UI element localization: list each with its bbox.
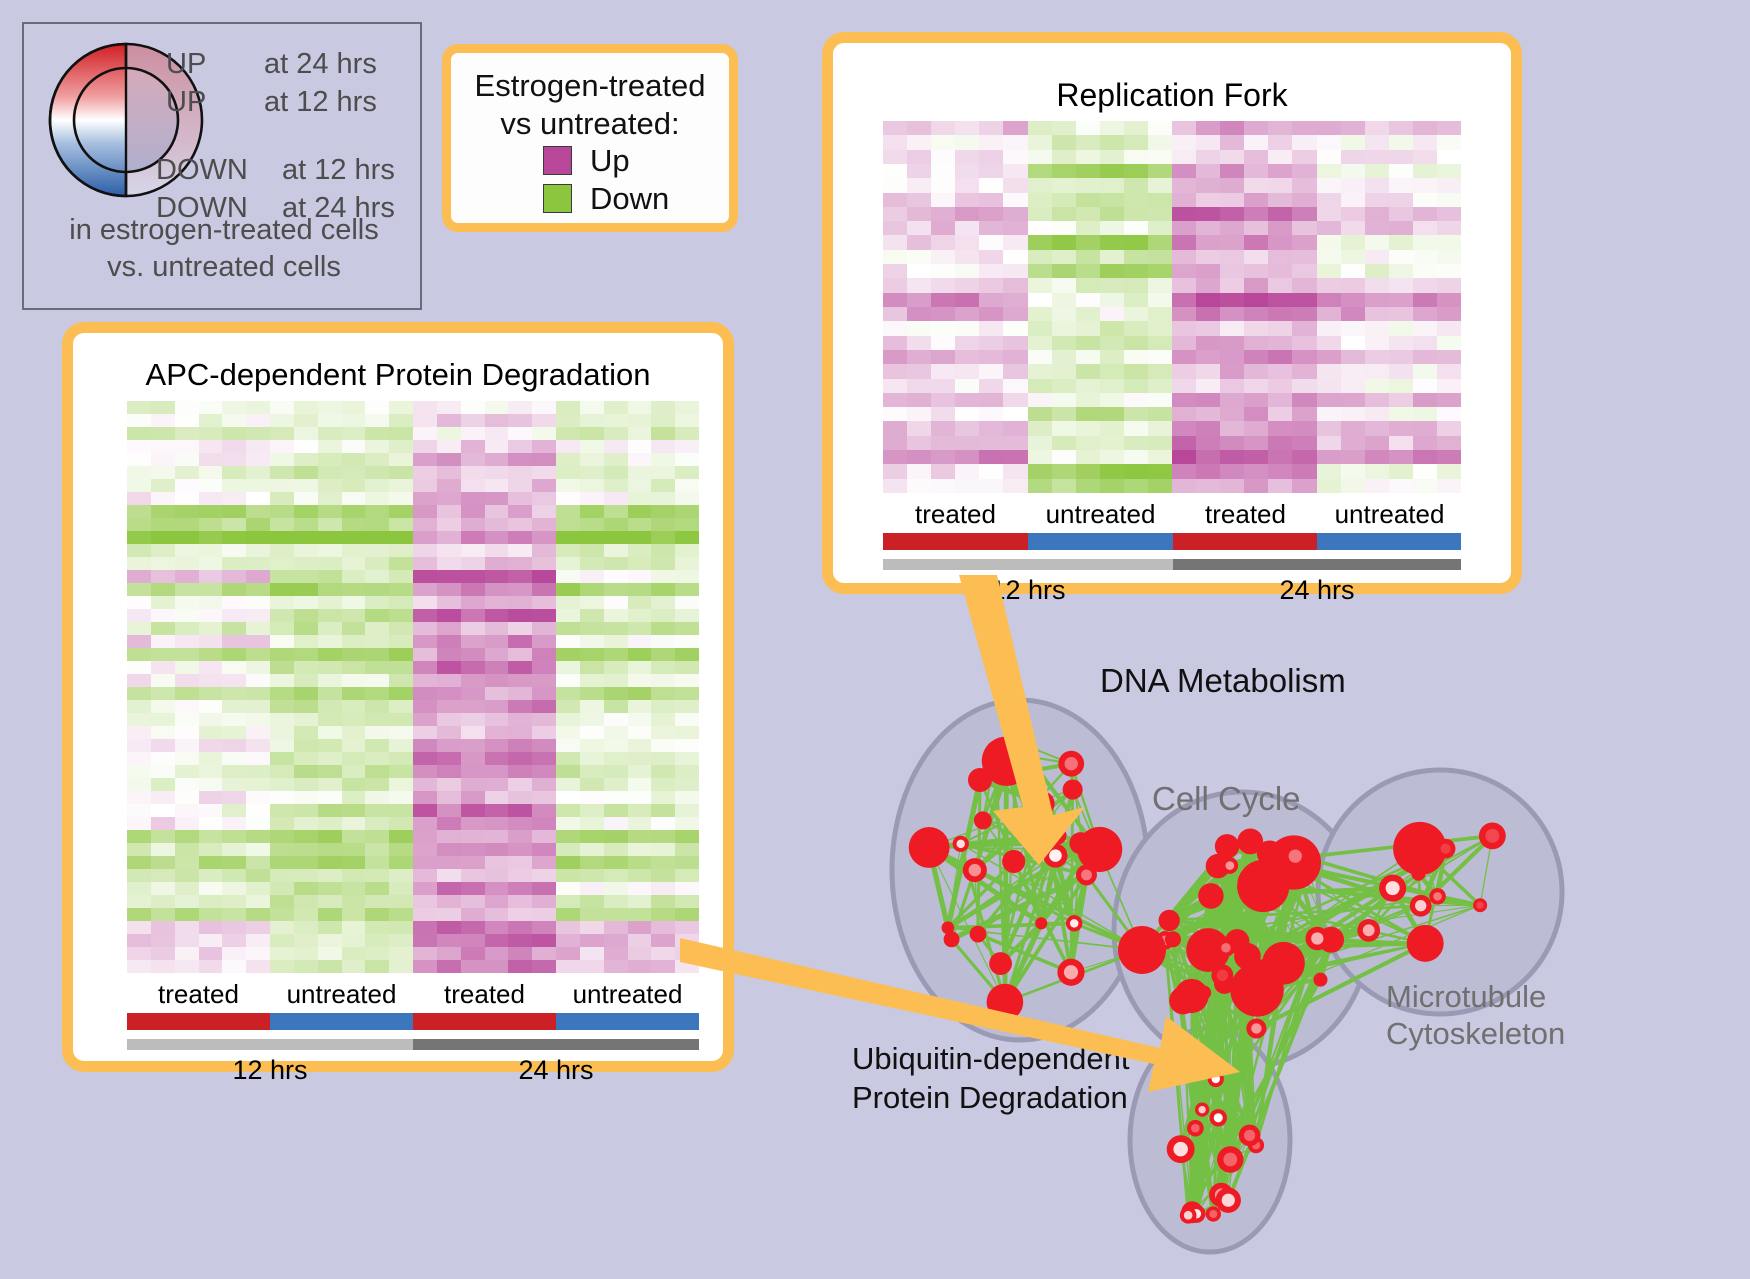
heatmap-cell xyxy=(1052,178,1076,192)
heatmap-cell xyxy=(532,934,556,947)
heatmap-cell xyxy=(270,817,294,830)
heatmap-cell xyxy=(270,466,294,479)
heatmap-cell xyxy=(1124,464,1148,478)
heatmap-cell xyxy=(389,921,413,934)
heatmap-cell xyxy=(1292,264,1316,278)
heatmap-cell xyxy=(604,713,628,726)
heatmap-cell xyxy=(199,739,223,752)
heatmap-cell xyxy=(883,407,907,421)
heatmap-cell xyxy=(437,635,461,648)
heatmap-cell xyxy=(389,622,413,635)
heatmap-cell xyxy=(628,648,652,661)
heatmap-cell xyxy=(389,674,413,687)
heatmap-cell xyxy=(1268,321,1292,335)
heatmap-cell xyxy=(342,804,366,817)
heatmap-cell xyxy=(485,596,509,609)
heatmap-cell xyxy=(342,739,366,752)
network-node xyxy=(1187,1120,1204,1137)
heatmap-cell xyxy=(1244,307,1268,321)
heatmap-cell xyxy=(1124,164,1148,178)
heatmap-cell xyxy=(199,661,223,674)
heatmap-cell xyxy=(1052,264,1076,278)
heatmap-cell xyxy=(175,908,199,921)
heatmap-cell xyxy=(246,908,270,921)
heatmap-cell xyxy=(651,414,675,427)
heatmap-cell xyxy=(461,856,485,869)
heatmap-cell xyxy=(199,700,223,713)
heatmap-cell xyxy=(246,570,270,583)
heatmap-cell xyxy=(556,804,580,817)
heatmap-cell xyxy=(1244,193,1268,207)
heatmap-cell xyxy=(246,531,270,544)
heatmap-cell xyxy=(1437,379,1461,393)
heatmap-cell xyxy=(485,947,509,960)
heatmap-cell xyxy=(979,479,1003,493)
heatmap-cell xyxy=(175,596,199,609)
heatmap-cell xyxy=(1244,479,1268,493)
heatmap-cell xyxy=(556,921,580,934)
heatmap-cell xyxy=(675,778,699,791)
heatmap-cell xyxy=(222,518,246,531)
heatmap-cell xyxy=(1148,150,1172,164)
heatmap-cell xyxy=(580,609,604,622)
heatmap-cell xyxy=(318,674,342,687)
heatmap-cell xyxy=(1220,421,1244,435)
heatmap-cell xyxy=(1268,350,1292,364)
heatmap-cell xyxy=(199,921,223,934)
heatmap-cell xyxy=(1413,393,1437,407)
heatmap-cell xyxy=(675,570,699,583)
heatmap-cell xyxy=(1052,135,1076,149)
heatmap-cell xyxy=(1437,307,1461,321)
heatmap-cell xyxy=(294,570,318,583)
heatmap-cell xyxy=(246,960,270,973)
heatmap-cell xyxy=(461,453,485,466)
heatmap-cell xyxy=(1076,278,1100,292)
heatmap-cell xyxy=(246,700,270,713)
heatmap-cell xyxy=(628,596,652,609)
heatmap-cell xyxy=(389,479,413,492)
heatmap-cell xyxy=(342,726,366,739)
heatmap-cell xyxy=(294,492,318,505)
apc-condition-label-2: treated xyxy=(413,979,556,1010)
heatmap-cell xyxy=(1100,178,1124,192)
heatmap-cell xyxy=(413,739,437,752)
heatmap-cell xyxy=(413,908,437,921)
heatmap-cell xyxy=(389,934,413,947)
heatmap-cell xyxy=(437,661,461,674)
heatmap-cell xyxy=(1268,421,1292,435)
heatmap-cell xyxy=(1052,479,1076,493)
heatmap-cell xyxy=(1028,293,1052,307)
heatmap-cell xyxy=(222,778,246,791)
heatmap-cell xyxy=(175,804,199,817)
heatmap-cell xyxy=(127,570,151,583)
heatmap-cell xyxy=(675,856,699,869)
heatmap-cell xyxy=(955,364,979,378)
heatmap-cell xyxy=(1003,464,1027,478)
heatmap-cell xyxy=(246,544,270,557)
heatmap-cell xyxy=(413,557,437,570)
heatmap-cell xyxy=(1196,336,1220,350)
heatmap-cell xyxy=(907,293,931,307)
heatmap-cell xyxy=(1052,436,1076,450)
heatmap-cell xyxy=(1341,321,1365,335)
heatmap-cell xyxy=(508,921,532,934)
heatmap-cell xyxy=(955,321,979,335)
heatmap-cell xyxy=(342,466,366,479)
heatmap-cell xyxy=(979,164,1003,178)
heatmap-cell xyxy=(1437,207,1461,221)
heatmap-cell xyxy=(318,622,342,635)
heatmap-cell xyxy=(437,765,461,778)
heatmap-cell xyxy=(532,960,556,973)
heatmap-cell xyxy=(222,635,246,648)
apc-condition-label-1: untreated xyxy=(270,979,413,1010)
heatmap-cell xyxy=(556,843,580,856)
heatmap-cell xyxy=(246,947,270,960)
heatmap-cell xyxy=(151,934,175,947)
heatmap-cell xyxy=(270,713,294,726)
heatmap-cell xyxy=(437,856,461,869)
rf-condition-bar-1 xyxy=(1028,533,1173,550)
heatmap-cell xyxy=(199,960,223,973)
heatmap-cell xyxy=(955,221,979,235)
heatmap-cell xyxy=(1317,307,1341,321)
heatmap-cell xyxy=(1172,121,1196,135)
heatmap-cell xyxy=(1244,393,1268,407)
heatmap-cell xyxy=(485,791,509,804)
heatmap-cell xyxy=(1292,421,1316,435)
heatmap-cell xyxy=(532,518,556,531)
heatmap-cell xyxy=(907,407,931,421)
heatmap-cell xyxy=(1220,307,1244,321)
heatmap-cell xyxy=(1076,178,1100,192)
heatmap-cell xyxy=(318,687,342,700)
heatmap-cell xyxy=(151,908,175,921)
heatmap-cell xyxy=(604,596,628,609)
heatmap-cell xyxy=(1052,336,1076,350)
heatmap-cell xyxy=(342,583,366,596)
heatmap-cell xyxy=(413,960,437,973)
heatmap-cell xyxy=(1341,479,1365,493)
heatmap-cell xyxy=(628,947,652,960)
heatmap-cell xyxy=(1437,436,1461,450)
heatmap-cell xyxy=(955,421,979,435)
heatmap-cell xyxy=(628,843,652,856)
heatmap-cell xyxy=(532,570,556,583)
heatmap-cell xyxy=(413,635,437,648)
heatmap-cell xyxy=(246,843,270,856)
heatmap-cell xyxy=(246,726,270,739)
heatmap-cell xyxy=(1124,135,1148,149)
heatmap-cell xyxy=(365,596,389,609)
heatmap-cell xyxy=(604,934,628,947)
heatmap-cell xyxy=(1341,178,1365,192)
heatmap-cell xyxy=(199,817,223,830)
heatmap-cell xyxy=(1365,207,1389,221)
heatmap-cell xyxy=(1100,321,1124,335)
heatmap-cell xyxy=(437,583,461,596)
heatmap-cell xyxy=(485,765,509,778)
heatmap-cell xyxy=(580,661,604,674)
heatmap-cell xyxy=(604,817,628,830)
heatmap-cell xyxy=(318,583,342,596)
heatmap-cell xyxy=(1052,235,1076,249)
heatmap-cell xyxy=(270,752,294,765)
heatmap-cell xyxy=(413,843,437,856)
heatmap-cell xyxy=(955,164,979,178)
heatmap-cell xyxy=(342,869,366,882)
heatmap-cell xyxy=(199,505,223,518)
heatmap-cell xyxy=(979,207,1003,221)
heatmap-cell xyxy=(1365,464,1389,478)
heatmap-cell xyxy=(318,856,342,869)
heatmap-cell xyxy=(222,947,246,960)
heatmap-cell xyxy=(246,505,270,518)
heatmap-cell xyxy=(461,921,485,934)
heatmap-cell xyxy=(270,700,294,713)
heatmap-cell xyxy=(1003,436,1027,450)
heatmap-cell xyxy=(1389,321,1413,335)
heatmap-cell xyxy=(175,843,199,856)
heatmap-cell xyxy=(1003,379,1027,393)
heatmap-cell xyxy=(1196,293,1220,307)
heatmap-cell xyxy=(979,264,1003,278)
heatmap-cell xyxy=(175,869,199,882)
heatmap-cell xyxy=(365,687,389,700)
heatmap-cell xyxy=(199,778,223,791)
heatmap-cell xyxy=(294,453,318,466)
heatmap-cell xyxy=(461,869,485,882)
heatmap-cell xyxy=(651,648,675,661)
heatmap-cell xyxy=(389,661,413,674)
heatmap-cell xyxy=(675,518,699,531)
heatmap-cell xyxy=(1028,364,1052,378)
heatmap-cell xyxy=(1172,364,1196,378)
heatmap-cell xyxy=(1317,293,1341,307)
heatmap-cell xyxy=(1244,379,1268,393)
heatmap-cell xyxy=(1365,336,1389,350)
heatmap-cell xyxy=(628,661,652,674)
heatmap-cell xyxy=(342,492,366,505)
heatmap-cell xyxy=(931,135,955,149)
heatmap-cell xyxy=(365,778,389,791)
heatmap-cell xyxy=(883,278,907,292)
heatmap-cell xyxy=(508,414,532,427)
heatmap-cell xyxy=(151,856,175,869)
heatmap-cell xyxy=(437,453,461,466)
heatmap-cell xyxy=(1317,135,1341,149)
heatmap-cell xyxy=(389,817,413,830)
heatmap-cell xyxy=(1003,450,1027,464)
heatmap-cell xyxy=(979,336,1003,350)
heatmap-cell xyxy=(907,121,931,135)
heatmap-cell xyxy=(222,570,246,583)
heatmap-cell xyxy=(246,804,270,817)
heatmap-cell xyxy=(1003,264,1027,278)
arrow-replication-fork-to-dna-metabolism xyxy=(935,575,1135,865)
heatmap-cell xyxy=(365,401,389,414)
heatmap-cell xyxy=(222,687,246,700)
heatmap-cell xyxy=(580,921,604,934)
heatmap-cell xyxy=(580,752,604,765)
heatmap-cell xyxy=(1244,421,1268,435)
apc-condition-label-0: treated xyxy=(127,979,270,1010)
heatmap-cell xyxy=(675,661,699,674)
heatmap-cell xyxy=(151,947,175,960)
heatmap-cell xyxy=(246,414,270,427)
heatmap-cell xyxy=(955,207,979,221)
heatmap-cell xyxy=(342,648,366,661)
heatmap-cell xyxy=(979,464,1003,478)
heatmap-cell xyxy=(1172,379,1196,393)
heatmap-cell xyxy=(604,830,628,843)
heatmap-cell xyxy=(318,427,342,440)
heatmap-cell xyxy=(556,687,580,700)
heatmap-cell xyxy=(151,479,175,492)
heatmap-cell xyxy=(532,765,556,778)
heatmap-cell xyxy=(1052,379,1076,393)
heatmap-cell xyxy=(1389,164,1413,178)
heatmap-cell xyxy=(222,596,246,609)
heatmap-cell xyxy=(1003,121,1027,135)
heatmap-cell xyxy=(365,479,389,492)
heatmap-cell xyxy=(151,596,175,609)
heatmap-cell xyxy=(580,453,604,466)
heatmap-cell xyxy=(508,804,532,817)
heatmap-cell xyxy=(1052,364,1076,378)
heatmap-cell xyxy=(1437,250,1461,264)
heatmap-cell xyxy=(532,778,556,791)
heatmap-cell xyxy=(199,544,223,557)
heatmap-cell xyxy=(1292,135,1316,149)
heatmap-cell xyxy=(1244,250,1268,264)
heatmap-cell xyxy=(675,843,699,856)
heatmap-cell xyxy=(151,661,175,674)
heatmap-cell xyxy=(389,570,413,583)
heatmap-cell xyxy=(955,436,979,450)
heatmap-cell xyxy=(365,583,389,596)
heatmap-cell xyxy=(1148,250,1172,264)
heatmap-cell xyxy=(413,414,437,427)
heatmap-cell xyxy=(151,544,175,557)
heatmap-cell xyxy=(1292,235,1316,249)
heatmap-cell xyxy=(675,466,699,479)
heatmap-cell xyxy=(628,609,652,622)
heatmap-cell xyxy=(318,908,342,921)
heatmap-cell xyxy=(485,570,509,583)
heatmap-cell xyxy=(651,661,675,674)
heatmap-cell xyxy=(675,804,699,817)
heatmap-cell xyxy=(508,440,532,453)
heatmap-cell xyxy=(1317,164,1341,178)
heatmap-cell xyxy=(270,804,294,817)
heatmap-cell xyxy=(175,778,199,791)
heatmap-cell xyxy=(1341,350,1365,364)
heatmap-cell xyxy=(199,440,223,453)
heatmap-cell xyxy=(1172,464,1196,478)
heatmap-cell xyxy=(1220,364,1244,378)
heatmap-cell xyxy=(580,687,604,700)
heatmap-cell xyxy=(1052,421,1076,435)
heatmap-cell xyxy=(556,752,580,765)
heatmap-cell xyxy=(556,713,580,726)
heatmap-cell xyxy=(175,492,199,505)
heatmap-cell xyxy=(127,947,151,960)
heatmap-cell xyxy=(413,869,437,882)
heatmap-cell xyxy=(979,307,1003,321)
heatmap-cell xyxy=(1268,235,1292,249)
heatmap-cell xyxy=(270,518,294,531)
heatmap-cell xyxy=(437,531,461,544)
heatmap-cell xyxy=(675,414,699,427)
heatmap-cell xyxy=(318,609,342,622)
heatmap-cell xyxy=(1292,393,1316,407)
heatmap-cell xyxy=(508,570,532,583)
heatmap-cell xyxy=(1413,464,1437,478)
heatmap-cell xyxy=(931,250,955,264)
heatmap-cell xyxy=(151,700,175,713)
heatmap-cell xyxy=(437,440,461,453)
heatmap-cell xyxy=(1172,164,1196,178)
heatmap-cell xyxy=(485,700,509,713)
heatmap-cell xyxy=(318,492,342,505)
heatmap-cell xyxy=(270,882,294,895)
heatmap-cell xyxy=(437,492,461,505)
heatmap-cell xyxy=(389,947,413,960)
network-node xyxy=(1217,1146,1243,1172)
heatmap-cell xyxy=(270,765,294,778)
heatmap-cell xyxy=(651,765,675,778)
heatmap-cell xyxy=(907,264,931,278)
heatmap-cell xyxy=(1172,250,1196,264)
heatmap-cell xyxy=(175,583,199,596)
heatmap-cell xyxy=(127,804,151,817)
heatmap-cell xyxy=(485,531,509,544)
heatmap-cell xyxy=(127,492,151,505)
heatmap-cell xyxy=(365,531,389,544)
heatmap-cell xyxy=(1124,421,1148,435)
heatmap-cell xyxy=(1148,264,1172,278)
heatmap-cell xyxy=(1028,164,1052,178)
heatmap-cell xyxy=(1220,350,1244,364)
heatmap-cell xyxy=(1292,436,1316,450)
heatmap-cell xyxy=(1196,421,1220,435)
heatmap-cell xyxy=(628,687,652,700)
heatmap-cell xyxy=(413,947,437,960)
heatmap-cell xyxy=(1172,321,1196,335)
heatmap-cell xyxy=(675,765,699,778)
heatmap-cell xyxy=(508,713,532,726)
heatmap-cell xyxy=(461,882,485,895)
network-node xyxy=(1215,834,1239,858)
heatmap-cell xyxy=(199,414,223,427)
heatmap-cell xyxy=(175,427,199,440)
heatmap-cell xyxy=(628,960,652,973)
rf-time-label-24hrs: 24 hrs xyxy=(1173,575,1461,606)
heatmap-cell xyxy=(508,869,532,882)
heatmap-cell xyxy=(1148,293,1172,307)
heatmap-cell xyxy=(270,635,294,648)
heatmap-cell xyxy=(342,609,366,622)
heatmap-cell xyxy=(955,379,979,393)
heatmap-cell xyxy=(955,135,979,149)
heatmap-cell xyxy=(1389,235,1413,249)
heatmap-cell xyxy=(532,661,556,674)
heatmap-cell xyxy=(413,856,437,869)
heatmap-cell xyxy=(931,178,955,192)
